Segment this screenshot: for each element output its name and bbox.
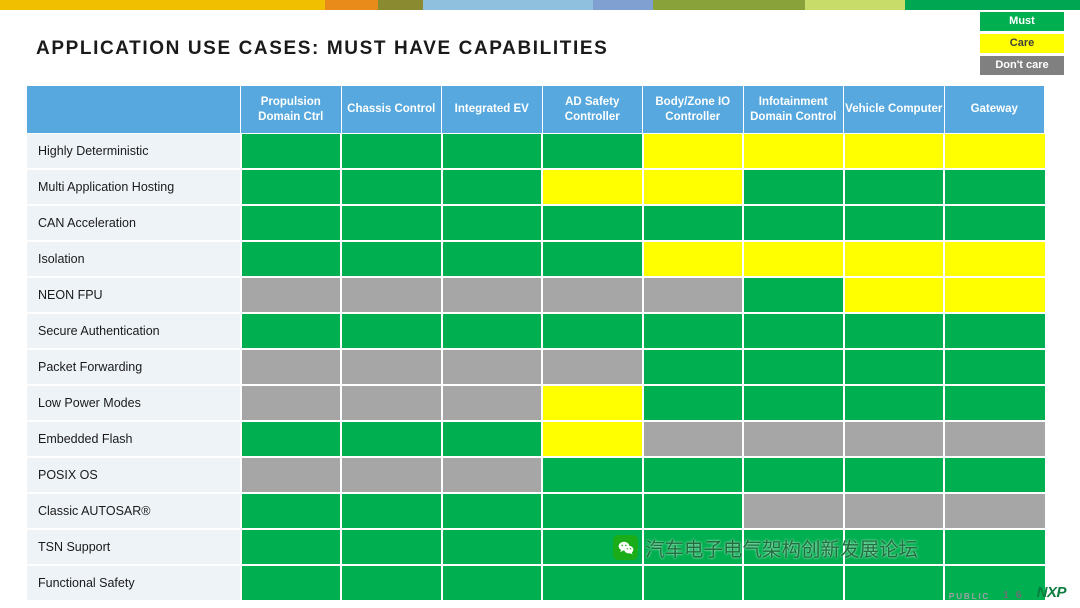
- capability-cell: [241, 313, 342, 349]
- capability-cell: [944, 205, 1045, 241]
- capability-cell: [241, 241, 342, 277]
- capability-cell: [442, 313, 543, 349]
- capability-cell: [442, 457, 543, 493]
- table-row: POSIX OS: [27, 457, 1045, 493]
- top-color-bar: [0, 0, 1080, 10]
- capability-cell: [341, 241, 442, 277]
- capability-cell: [643, 349, 744, 385]
- column-header: Gateway: [944, 86, 1045, 134]
- capability-cell: [643, 169, 744, 205]
- capability-cell: [241, 169, 342, 205]
- row-header: POSIX OS: [27, 457, 241, 493]
- capability-cell: [844, 134, 945, 170]
- capabilities-table: Propulsion Domain CtrlChassis ControlInt…: [27, 85, 1045, 602]
- legend: MustCareDon't care: [980, 12, 1064, 75]
- capability-cell: [743, 277, 844, 313]
- capability-cell: [241, 457, 342, 493]
- table-row: Embedded Flash: [27, 421, 1045, 457]
- watermark: 汽车电子电气架构创新发展论坛: [613, 533, 918, 562]
- capability-cell: [743, 457, 844, 493]
- capability-cell: [241, 529, 342, 565]
- table-row: Functional Safety: [27, 565, 1045, 601]
- page-number: 1 6: [1003, 589, 1024, 601]
- capability-cell: [944, 529, 1045, 565]
- capability-cell: [844, 241, 945, 277]
- capability-cell: [341, 565, 442, 601]
- capability-cell: [944, 169, 1045, 205]
- capability-cell: [944, 313, 1045, 349]
- classification-label: PUBLIC: [949, 591, 990, 601]
- capability-cell: [442, 529, 543, 565]
- capability-cell: [542, 169, 643, 205]
- capability-cell: [944, 349, 1045, 385]
- column-header: Propulsion Domain Ctrl: [241, 86, 342, 134]
- column-header: Chassis Control: [341, 86, 442, 134]
- capability-cell: [542, 241, 643, 277]
- capability-cell: [643, 421, 744, 457]
- row-header: Secure Authentication: [27, 313, 241, 349]
- column-header: Body/Zone IO Controller: [643, 86, 744, 134]
- legend-item: Care: [980, 34, 1064, 53]
- table-row: Multi Application Hosting: [27, 169, 1045, 205]
- capability-cell: [844, 349, 945, 385]
- capability-cell: [241, 385, 342, 421]
- capability-cell: [542, 205, 643, 241]
- capability-cell: [643, 277, 744, 313]
- capability-cell: [643, 134, 744, 170]
- capability-cell: [643, 565, 744, 601]
- wechat-icon: [613, 535, 638, 560]
- capability-cell: [743, 349, 844, 385]
- capability-cell: [844, 277, 945, 313]
- top-color-segment: [0, 0, 325, 10]
- capability-cell: [743, 421, 844, 457]
- capability-cell: [442, 241, 543, 277]
- table-corner-cell: [27, 86, 241, 134]
- capability-cell: [743, 565, 844, 601]
- capability-cell: [341, 134, 442, 170]
- table-row: CAN Acceleration: [27, 205, 1045, 241]
- capability-cell: [844, 169, 945, 205]
- row-header: CAN Acceleration: [27, 205, 241, 241]
- capability-cell: [844, 493, 945, 529]
- capability-cell: [743, 385, 844, 421]
- top-color-segment: [423, 0, 593, 10]
- footer: PUBLIC 1 6 NXP: [949, 584, 1066, 601]
- capability-cell: [643, 457, 744, 493]
- row-header: Embedded Flash: [27, 421, 241, 457]
- capability-cell: [442, 169, 543, 205]
- table-body: Highly DeterministicMulti Application Ho…: [27, 134, 1045, 602]
- table-row: Secure Authentication: [27, 313, 1045, 349]
- top-color-segment: [325, 0, 378, 10]
- capability-cell: [341, 277, 442, 313]
- capability-cell: [442, 205, 543, 241]
- table-row: Isolation: [27, 241, 1045, 277]
- capability-cell: [241, 277, 342, 313]
- capability-cell: [542, 421, 643, 457]
- capability-cell: [844, 421, 945, 457]
- top-color-segment: [593, 0, 653, 10]
- capability-cell: [743, 493, 844, 529]
- capability-cell: [542, 493, 643, 529]
- capability-cell: [341, 457, 442, 493]
- header-row: Propulsion Domain CtrlChassis ControlInt…: [27, 86, 1045, 134]
- capability-cell: [542, 313, 643, 349]
- capability-cell: [542, 385, 643, 421]
- capability-cell: [241, 421, 342, 457]
- row-header: Low Power Modes: [27, 385, 241, 421]
- capability-cell: [743, 205, 844, 241]
- row-header: NEON FPU: [27, 277, 241, 313]
- capability-cell: [944, 493, 1045, 529]
- capability-cell: [844, 313, 945, 349]
- table-row: Highly Deterministic: [27, 134, 1045, 170]
- row-header: Packet Forwarding: [27, 349, 241, 385]
- capability-cell: [944, 421, 1045, 457]
- capability-cell: [241, 493, 342, 529]
- capability-cell: [442, 277, 543, 313]
- capability-cell: [844, 457, 945, 493]
- capability-cell: [643, 241, 744, 277]
- capability-cell: [844, 205, 945, 241]
- top-color-segment: [653, 0, 805, 10]
- column-header: Infotainment Domain Control: [743, 86, 844, 134]
- capability-cell: [944, 241, 1045, 277]
- column-header: Vehicle Computer: [844, 86, 945, 134]
- capability-cell: [944, 277, 1045, 313]
- capability-cell: [542, 349, 643, 385]
- capability-cell: [241, 134, 342, 170]
- top-color-segment: [905, 0, 1080, 10]
- capability-cell: [341, 349, 442, 385]
- capability-cell: [542, 134, 643, 170]
- capability-cell: [643, 385, 744, 421]
- capability-cell: [341, 205, 442, 241]
- capability-cell: [643, 313, 744, 349]
- column-header: Integrated EV: [442, 86, 543, 134]
- table-head: Propulsion Domain CtrlChassis ControlInt…: [27, 86, 1045, 134]
- capability-cell: [341, 493, 442, 529]
- capability-cell: [542, 277, 643, 313]
- capability-cell: [643, 493, 744, 529]
- top-color-segment: [378, 0, 423, 10]
- capability-cell: [241, 349, 342, 385]
- capability-cell: [643, 205, 744, 241]
- capability-cell: [442, 349, 543, 385]
- capability-cell: [341, 529, 442, 565]
- capabilities-table-wrap: Propulsion Domain CtrlChassis ControlInt…: [27, 85, 1045, 602]
- table-row: NEON FPU: [27, 277, 1045, 313]
- table-row: Packet Forwarding: [27, 349, 1045, 385]
- row-header: Multi Application Hosting: [27, 169, 241, 205]
- watermark-text: 汽车电子电气架构创新发展论坛: [645, 533, 918, 562]
- page-title: APPLICATION USE CASES: MUST HAVE CAPABIL…: [36, 38, 608, 60]
- capability-cell: [542, 457, 643, 493]
- capability-cell: [442, 493, 543, 529]
- legend-item: Don't care: [980, 56, 1064, 75]
- capability-cell: [341, 313, 442, 349]
- table-row: Classic AUTOSAR®: [27, 493, 1045, 529]
- row-header: Classic AUTOSAR®: [27, 493, 241, 529]
- row-header: TSN Support: [27, 529, 241, 565]
- capability-cell: [944, 385, 1045, 421]
- row-header: Functional Safety: [27, 565, 241, 601]
- top-color-segment: [805, 0, 905, 10]
- row-header: Isolation: [27, 241, 241, 277]
- capability-cell: [442, 134, 543, 170]
- capability-cell: [944, 134, 1045, 170]
- nxp-logo: NXP: [1037, 584, 1066, 601]
- legend-item: Must: [980, 12, 1064, 31]
- capability-cell: [542, 565, 643, 601]
- capability-cell: [743, 134, 844, 170]
- capability-cell: [743, 169, 844, 205]
- capability-cell: [341, 421, 442, 457]
- capability-cell: [944, 457, 1045, 493]
- table-row: Low Power Modes: [27, 385, 1045, 421]
- row-header: Highly Deterministic: [27, 134, 241, 170]
- capability-cell: [341, 385, 442, 421]
- column-header: AD Safety Controller: [542, 86, 643, 134]
- capability-cell: [442, 565, 543, 601]
- capability-cell: [241, 205, 342, 241]
- capability-cell: [442, 421, 543, 457]
- capability-cell: [743, 241, 844, 277]
- capability-cell: [844, 565, 945, 601]
- capability-cell: [442, 385, 543, 421]
- capability-cell: [844, 385, 945, 421]
- capability-cell: [341, 169, 442, 205]
- capability-cell: [241, 565, 342, 601]
- capability-cell: [743, 313, 844, 349]
